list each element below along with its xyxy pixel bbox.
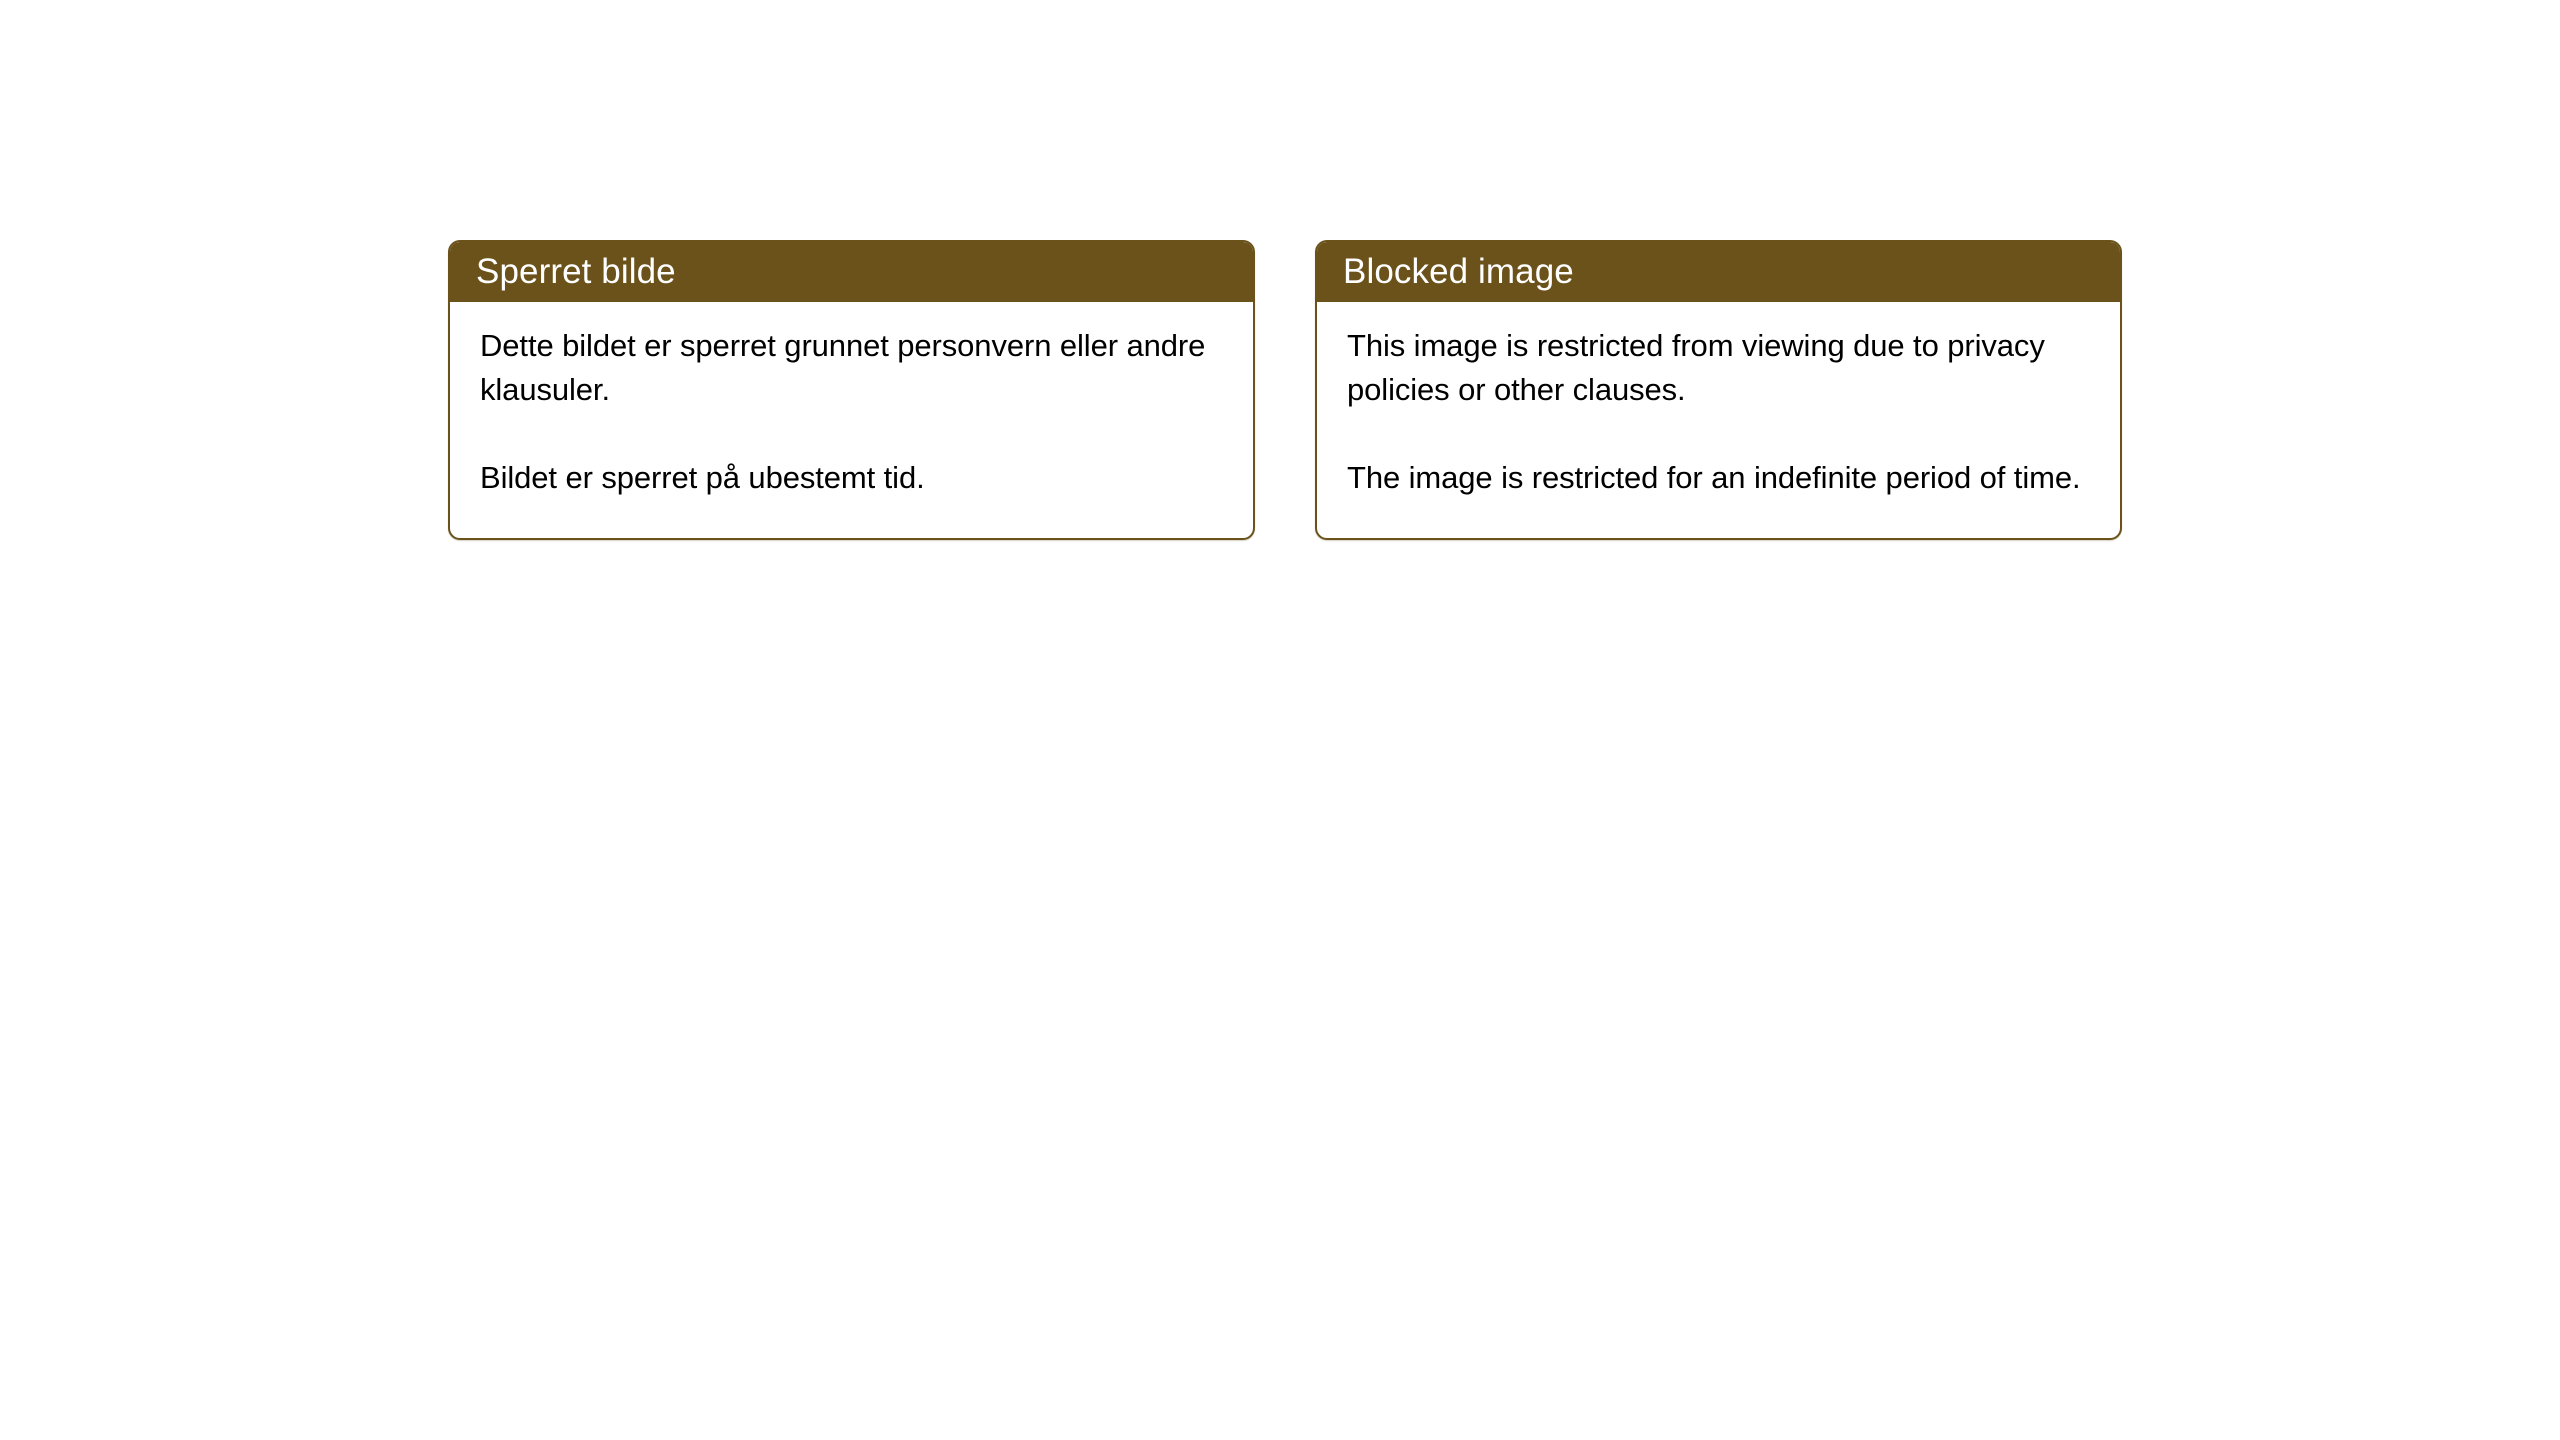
card-title-english: Blocked image xyxy=(1343,254,1574,289)
card-body-norwegian: Dette bildet er sperret grunnet personve… xyxy=(450,302,1253,538)
card-paragraph-norwegian-2: Bildet er sperret på ubestemt tid. xyxy=(480,456,1227,500)
card-header-norwegian: Sperret bilde xyxy=(448,240,1255,302)
card-title-norwegian: Sperret bilde xyxy=(476,254,676,289)
card-paragraph-english-2: The image is restricted for an indefinit… xyxy=(1347,456,2094,500)
blocked-image-card-norwegian: Sperret bilde Dette bildet er sperret gr… xyxy=(448,240,1255,540)
blocked-image-notice-deck: Sperret bilde Dette bildet er sperret gr… xyxy=(448,240,2122,540)
card-paragraph-english-1: This image is restricted from viewing du… xyxy=(1347,324,2094,412)
blocked-image-card-english: Blocked image This image is restricted f… xyxy=(1315,240,2122,540)
card-paragraph-norwegian-1: Dette bildet er sperret grunnet personve… xyxy=(480,324,1227,412)
card-body-english: This image is restricted from viewing du… xyxy=(1317,302,2120,538)
card-header-english: Blocked image xyxy=(1315,240,2122,302)
